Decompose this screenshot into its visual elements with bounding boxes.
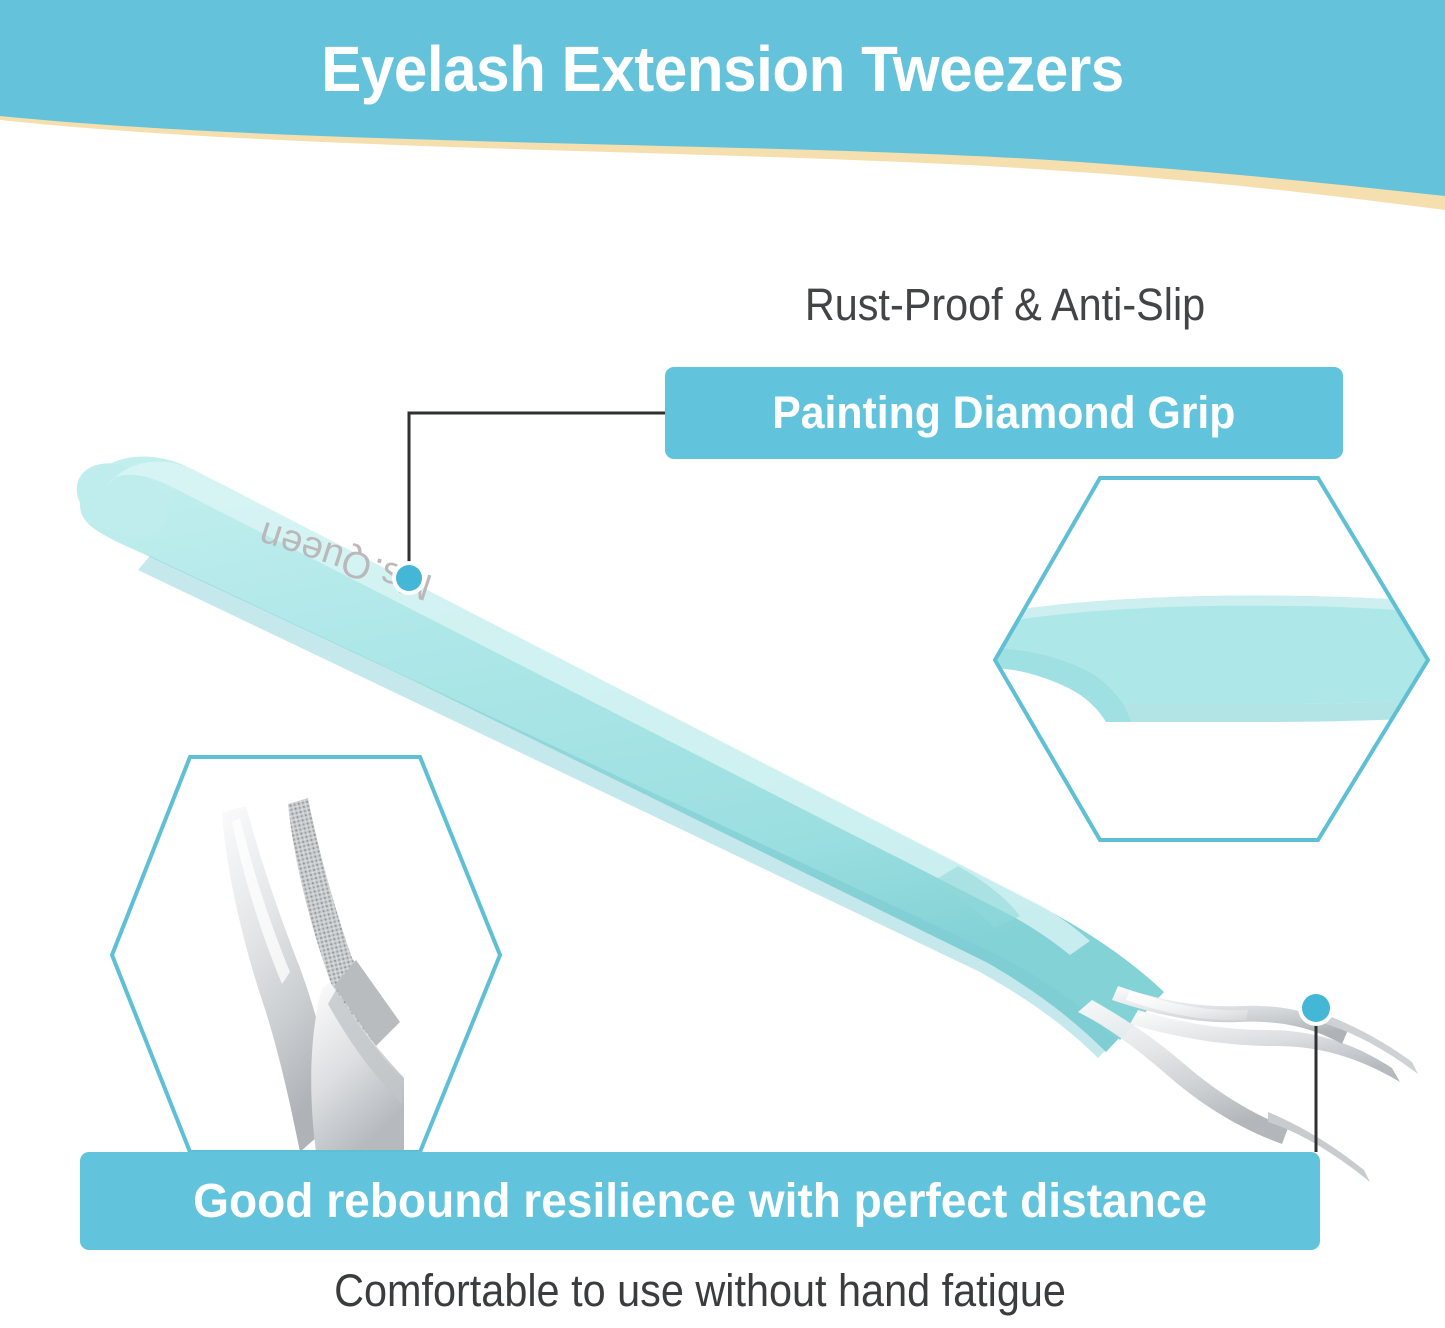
feature-caption-comfort: Comfortable to use without hand fatigue (130, 1265, 1271, 1317)
feature-badge-diamond-grip-label: Painting Diamond Grip (772, 387, 1235, 439)
feature-badge-rebound: Good rebound resilience with perfect dis… (80, 1152, 1320, 1250)
product-infographic: Eyelash Extension Tweezers (0, 0, 1445, 1328)
zoom-panel-tweezer-tip (110, 755, 502, 1155)
zoom-panel-handle-grip (990, 476, 1432, 842)
feature-badge-diamond-grip: Painting Diamond Grip (665, 367, 1343, 459)
feature-badge-rebound-label: Good rebound resilience with perfect dis… (193, 1174, 1207, 1229)
product-illustration (0, 0, 1445, 1328)
feature-subtitle-rust-proof: Rust-Proof & Anti-Slip (692, 279, 1318, 331)
